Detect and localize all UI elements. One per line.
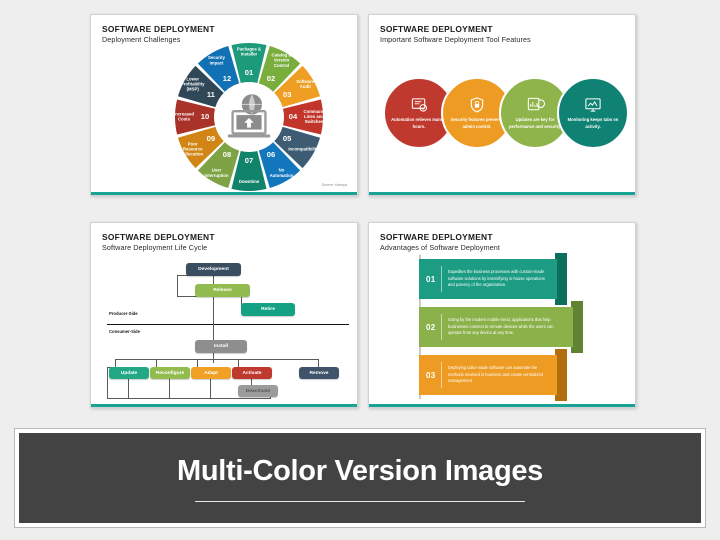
ribbon-number: 02 bbox=[419, 323, 441, 332]
ribbon-text: Expedites the business processes with cu… bbox=[441, 269, 557, 288]
ribbon-body: 01Expedites the business processes with … bbox=[419, 259, 557, 299]
shield-lock-icon bbox=[467, 96, 487, 114]
wheel-segment-number: 02 bbox=[267, 74, 275, 83]
panel4-title: SOFTWARE DEPLOYMENT bbox=[380, 232, 493, 242]
wheel-segment-label: CommandLines andSwitches bbox=[303, 109, 324, 124]
monitor-activity-icon bbox=[583, 96, 603, 114]
panel-tool-features[interactable]: SOFTWARE DEPLOYMENT Important Software D… bbox=[368, 14, 636, 196]
return-drop-adapt bbox=[210, 378, 211, 399]
panel1-source: Source: Kaseya bbox=[322, 183, 347, 187]
node-label: Reconfigure bbox=[156, 371, 185, 376]
node-adapt[interactable]: Adapt bbox=[191, 367, 231, 379]
connector-dev-left bbox=[177, 275, 178, 297]
panel1-title: SOFTWARE DEPLOYMENT bbox=[102, 24, 215, 34]
wheel-segment-label: Incompatibilities bbox=[288, 147, 323, 152]
feature-circle-4[interactable]: Monitoring keeps tabs on activity. bbox=[557, 77, 629, 149]
feature-text: Security features preserve admin control… bbox=[449, 117, 505, 129]
wheel-segment-number: 03 bbox=[283, 90, 291, 99]
ribbon-body: 02Going by the modern mobile trend, appl… bbox=[419, 307, 573, 347]
wheel-segment-label: Catalog &VersionControl bbox=[271, 53, 291, 68]
panel-life-cycle[interactable]: SOFTWARE DEPLOYMENT Software Deployment … bbox=[90, 222, 358, 408]
wheel-segment-number: 01 bbox=[245, 68, 254, 77]
panel4-accent-bar bbox=[369, 404, 635, 407]
node-label: Update bbox=[121, 371, 138, 376]
feature-circle-row: Automation relieves manual hours.Securit… bbox=[383, 77, 623, 155]
feature-text: Updates are key for performance and secu… bbox=[507, 117, 563, 129]
panel2-title: SOFTWARE DEPLOYMENT bbox=[380, 24, 493, 34]
node-deactivate[interactable]: Deactivate bbox=[238, 385, 278, 397]
banner-title: Multi-Color Version Images bbox=[177, 455, 543, 488]
wheel-segment-label: SecurityImpact bbox=[208, 55, 226, 65]
wheel-segment-number: 09 bbox=[207, 134, 215, 143]
panel2-accent-bar bbox=[369, 192, 635, 195]
ribbon-number: 03 bbox=[419, 371, 441, 380]
ribbon-body: 03Deploying tailor-made software can aut… bbox=[419, 355, 557, 395]
node-label: Remove bbox=[309, 371, 328, 376]
connector-release-left bbox=[177, 296, 197, 297]
update-chart-icon bbox=[525, 96, 545, 114]
node-release[interactable]: Release bbox=[195, 284, 250, 297]
side-divider bbox=[107, 324, 349, 325]
panel4-subtitle: Advantages of Software Deployment bbox=[380, 243, 500, 252]
challenges-wheel: 01Packages &Installer02Catalog &VersionC… bbox=[173, 41, 325, 193]
panel-advantages[interactable]: SOFTWARE DEPLOYMENT Advantages of Softwa… bbox=[368, 222, 636, 408]
automation-screen-icon bbox=[409, 96, 429, 114]
return-drop-update bbox=[128, 378, 129, 399]
node-reconfigure[interactable]: Reconfigure bbox=[150, 367, 190, 379]
panel3-accent-bar bbox=[91, 404, 357, 407]
wheel-segment-number: 05 bbox=[283, 134, 292, 143]
wheel-segment-number: 06 bbox=[267, 150, 275, 159]
ribbon-text: Deploying tailor-made software can autom… bbox=[441, 365, 557, 384]
slide-thumbnail-grid: SOFTWARE DEPLOYMENT Deployment Challenge… bbox=[0, 0, 720, 420]
bottom-banner: Multi-Color Version Images bbox=[14, 428, 706, 528]
panel2-subtitle: Important Software Deployment Tool Featu… bbox=[380, 35, 531, 44]
banner-rule bbox=[195, 501, 525, 502]
node-retire[interactable]: Retire bbox=[241, 303, 295, 316]
wheel-segment-label: Downtime bbox=[239, 179, 260, 184]
panel1-subtitle: Deployment Challenges bbox=[102, 35, 180, 44]
return-drop-reconfigure bbox=[169, 378, 170, 399]
wheel-segment-number: 08 bbox=[223, 150, 231, 159]
panel1-accent-bar bbox=[91, 192, 357, 195]
node-update[interactable]: Update bbox=[109, 367, 149, 379]
node-label: Retire bbox=[261, 307, 275, 312]
node-remove[interactable]: Remove bbox=[299, 367, 339, 379]
consumer-side-label: Consumer-Side bbox=[109, 329, 140, 334]
wheel-segment-number: 10 bbox=[201, 112, 209, 121]
wheel-segment-number: 11 bbox=[207, 90, 216, 99]
node-label: Development bbox=[198, 267, 229, 272]
panel3-title: SOFTWARE DEPLOYMENT bbox=[102, 232, 215, 242]
connector-install-bus bbox=[115, 359, 319, 360]
node-label: Adapt bbox=[204, 371, 218, 376]
ribbon-text: Going by the modern mobile trend, applic… bbox=[441, 317, 573, 336]
lifecycle-diagram: Producer-Side Consumer-Side bbox=[91, 259, 358, 405]
feature-text: Monitoring keeps tabs on activity. bbox=[565, 117, 621, 129]
wheel-segment-number: 12 bbox=[223, 74, 231, 83]
panel-deployment-challenges[interactable]: SOFTWARE DEPLOYMENT Deployment Challenge… bbox=[90, 14, 358, 196]
node-activate[interactable]: Activate bbox=[232, 367, 272, 379]
node-label: Install bbox=[214, 344, 228, 349]
node-label: Deactivate bbox=[246, 389, 270, 394]
laptop-upload-globe-icon bbox=[220, 88, 278, 146]
producer-side-label: Producer-Side bbox=[109, 311, 138, 316]
wheel-segment-number: 07 bbox=[245, 156, 253, 165]
wheel-segment-number: 04 bbox=[289, 112, 298, 121]
feature-text: Automation relieves manual hours. bbox=[391, 117, 447, 129]
panel3-subtitle: Software Deployment Life Cycle bbox=[102, 243, 207, 252]
node-development[interactable]: Development bbox=[186, 263, 241, 276]
node-install[interactable]: Install bbox=[195, 340, 247, 353]
return-bottom-h bbox=[107, 398, 271, 399]
node-label: Activate bbox=[242, 371, 261, 376]
node-label: Release bbox=[213, 288, 232, 293]
ribbon-number: 01 bbox=[419, 275, 441, 284]
